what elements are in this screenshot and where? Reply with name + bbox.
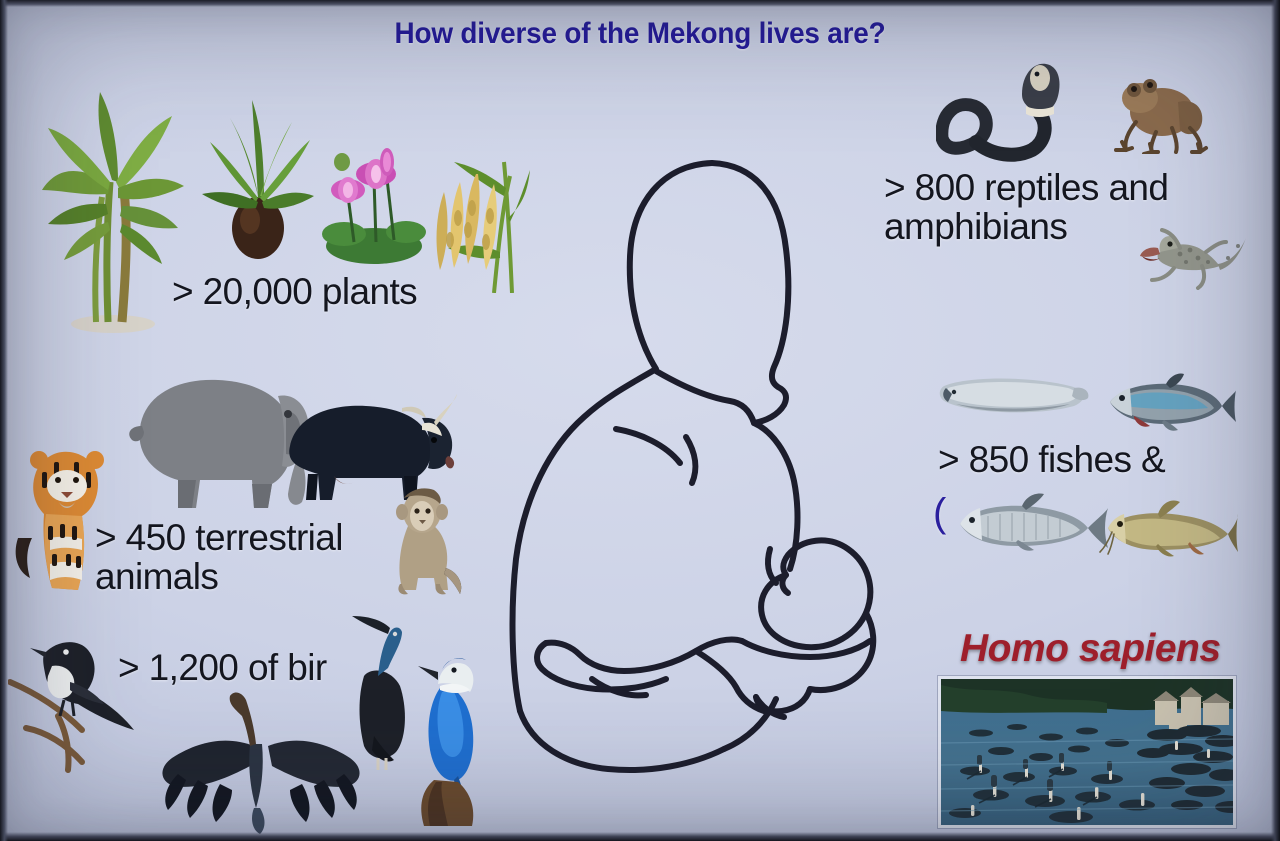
caption-terrestrial-animals: > 450 terrestrial animals xyxy=(95,518,343,596)
monkey-illustration xyxy=(378,486,466,598)
brown-frog-illustration xyxy=(1106,62,1214,154)
slide-edge-top xyxy=(0,0,1280,7)
barb-carp-illustration xyxy=(948,492,1108,554)
banana-plant-illustration xyxy=(38,72,188,337)
floating-market-photo xyxy=(938,676,1236,828)
page-title: How diverse of the Mekong lives are? xyxy=(45,17,1235,51)
caption-plants: > 20,000 plants xyxy=(172,272,417,311)
lotus-flowers-illustration xyxy=(318,118,430,268)
coconut-sprout-illustration xyxy=(196,78,316,268)
black-stork-illustration xyxy=(338,610,423,770)
caption-reptiles-amphibians: > 800 reptiles and amphibians xyxy=(884,168,1168,246)
catfish-illustration xyxy=(1098,500,1238,558)
darter-bird-spread-wings-illustration xyxy=(158,690,363,835)
slide-edge-left xyxy=(0,0,8,841)
wagtail-bird-illustration xyxy=(8,620,138,780)
caption-fishes-second-line: ( xyxy=(933,492,946,534)
knifefish-illustration xyxy=(938,368,1090,426)
caption-homo-sapiens: Homo sapiens xyxy=(960,628,1221,669)
cobra-snake-illustration xyxy=(936,58,1076,166)
presentation-slide: How diverse of the Mekong lives are? xyxy=(0,0,1280,841)
caption-fishes: > 850 fishes & xyxy=(938,440,1165,479)
silver-fish-illustration xyxy=(1096,372,1236,434)
mother-holding-baby-line-art xyxy=(480,145,910,795)
slide-edge-right xyxy=(1271,0,1280,841)
caption-birds: > 1,200 of bir xyxy=(118,648,327,687)
